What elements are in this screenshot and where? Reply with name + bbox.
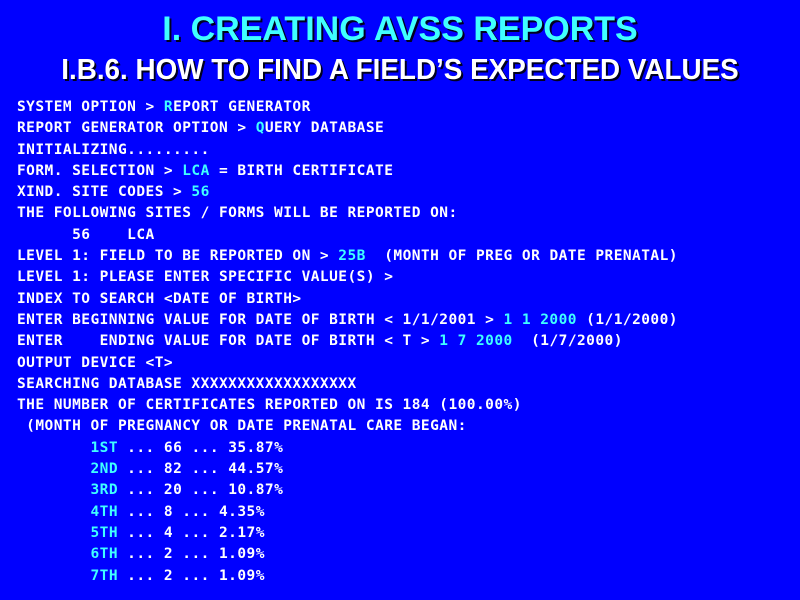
result-percent: 1.09%: [219, 568, 265, 584]
result-count: 2: [164, 546, 173, 562]
result-row: 2ND ... 82 ... 44.57%: [17, 459, 800, 480]
result-count: 20: [164, 482, 182, 498]
terminal-text: UERY DATABASE: [265, 120, 384, 136]
result-percent: 4.35%: [219, 504, 265, 520]
terminal-text: EPORT GENERATOR: [173, 99, 311, 115]
line-level1-field: LEVEL 1: FIELD TO BE REPORTED ON > 25B (…: [17, 246, 800, 267]
row-indent: [17, 461, 90, 477]
result-percent: 10.87%: [228, 482, 283, 498]
result-row: 4TH ... 8 ... 4.35%: [17, 502, 800, 523]
line-site-row: 56 LCA: [17, 225, 800, 246]
result-ordinal: 2ND: [90, 461, 118, 477]
result-count: 82: [164, 461, 182, 477]
line-system-option: SYSTEM OPTION > REPORT GENERATOR: [17, 97, 800, 118]
terminal-text: SYSTEM OPTION >: [17, 99, 164, 115]
line-index-to-search: INDEX TO SEARCH <DATE OF BIRTH>: [17, 289, 800, 310]
highlighted-input: Q: [256, 120, 265, 136]
terminal-text: ENTER ENDING VALUE FOR DATE OF BIRTH < T…: [17, 333, 439, 349]
terminal-text: FORM. SELECTION >: [17, 163, 182, 179]
result-row: 1ST ... 66 ... 35.87%: [17, 438, 800, 459]
result-percent: 35.87%: [228, 440, 283, 456]
row-indent: [17, 504, 90, 520]
result-separator: ...: [118, 504, 164, 520]
highlighted-input: 1 7 2000: [439, 333, 512, 349]
terminal-lines: SYSTEM OPTION > REPORT GENERATORREPORT G…: [17, 97, 800, 438]
terminal-text: LEVEL 1: FIELD TO BE REPORTED ON >: [17, 248, 338, 264]
terminal-text: (MONTH OF PREGNANCY OR DATE PRENATAL CAR…: [17, 418, 467, 434]
result-row: 7TH ... 2 ... 1.09%: [17, 566, 800, 587]
terminal-text: ENTER BEGINNING VALUE FOR DATE OF BIRTH …: [17, 312, 504, 328]
terminal-text: LEVEL 1: PLEASE ENTER SPECIFIC VALUE(S) …: [17, 269, 393, 285]
terminal-text: REPORT GENERATOR OPTION >: [17, 120, 256, 136]
line-following-sites: THE FOLLOWING SITES / FORMS WILL BE REPO…: [17, 203, 800, 224]
result-separator: ...: [173, 504, 219, 520]
result-row: 5TH ... 4 ... 2.17%: [17, 523, 800, 544]
row-indent: [17, 546, 90, 562]
result-count: 8: [164, 504, 173, 520]
result-count: 66: [164, 440, 182, 456]
line-xind-site-codes: XIND. SITE CODES > 56: [17, 182, 800, 203]
result-percent: 44.57%: [228, 461, 283, 477]
row-indent: [17, 525, 90, 541]
title-block: I. CREATING AVSS REPORTS I.B.6. HOW TO F…: [0, 8, 800, 88]
terminal-text: = BIRTH CERTIFICATE: [210, 163, 394, 179]
terminal-text: INDEX TO SEARCH <DATE OF BIRTH>: [17, 291, 302, 307]
line-level1-specific: LEVEL 1: PLEASE ENTER SPECIFIC VALUE(S) …: [17, 267, 800, 288]
result-ordinal: 4TH: [90, 504, 118, 520]
line-month-pregnancy: (MONTH OF PREGNANCY OR DATE PRENATAL CAR…: [17, 416, 800, 437]
result-separator: ...: [118, 568, 164, 584]
line-beginning-value: ENTER BEGINNING VALUE FOR DATE OF BIRTH …: [17, 310, 800, 331]
result-row: 6TH ... 2 ... 1.09%: [17, 544, 800, 565]
result-separator: ...: [118, 440, 164, 456]
terminal-text: (MONTH OF PREG OR DATE PRENATAL): [366, 248, 678, 264]
line-searching-db: SEARCHING DATABASE XXXXXXXXXXXXXXXXXX: [17, 374, 800, 395]
highlighted-input: R: [164, 99, 173, 115]
highlighted-input: 25B: [338, 248, 366, 264]
terminal-text: THE FOLLOWING SITES / FORMS WILL BE REPO…: [17, 205, 458, 221]
line-number-certs: THE NUMBER OF CERTIFICATES REPORTED ON I…: [17, 395, 800, 416]
terminal-text: (1/7/2000): [513, 333, 623, 349]
row-indent: [17, 440, 90, 456]
row-indent: [17, 482, 90, 498]
result-separator: ...: [173, 525, 219, 541]
result-separator: ...: [173, 546, 219, 562]
result-separator: ...: [118, 525, 164, 541]
result-separator: ...: [118, 461, 164, 477]
terminal-text: XIND. SITE CODES >: [17, 184, 191, 200]
page-subtitle: I.B.6. HOW TO FIND A FIELD’S EXPECTED VA…: [16, 52, 784, 88]
result-separator: ...: [182, 482, 228, 498]
terminal-transcript: SYSTEM OPTION > REPORT GENERATORREPORT G…: [17, 97, 800, 587]
result-ordinal: 5TH: [90, 525, 118, 541]
line-ending-value: ENTER ENDING VALUE FOR DATE OF BIRTH < T…: [17, 331, 800, 352]
result-ordinal: 3RD: [90, 482, 118, 498]
highlighted-input: LCA: [182, 163, 210, 179]
page-title: I. CREATING AVSS REPORTS: [0, 8, 800, 50]
result-row: 3RD ... 20 ... 10.87%: [17, 480, 800, 501]
slide-canvas: I. CREATING AVSS REPORTS I.B.6. HOW TO F…: [0, 0, 800, 600]
highlighted-input: 56: [191, 184, 209, 200]
result-ordinal: 7TH: [90, 568, 118, 584]
result-ordinal: 1ST: [90, 440, 118, 456]
line-form-selection: FORM. SELECTION > LCA = BIRTH CERTIFICAT…: [17, 161, 800, 182]
row-indent: [17, 568, 90, 584]
result-separator: ...: [182, 461, 228, 477]
line-report-generator-option: REPORT GENERATOR OPTION > QUERY DATABASE: [17, 118, 800, 139]
result-count: 2: [164, 568, 173, 584]
terminal-text: SEARCHING DATABASE XXXXXXXXXXXXXXXXXX: [17, 376, 357, 392]
terminal-text: (1/1/2000): [577, 312, 678, 328]
terminal-text: 56 LCA: [17, 227, 155, 243]
terminal-text: INITIALIZING.........: [17, 142, 210, 158]
terminal-text: THE NUMBER OF CERTIFICATES REPORTED ON I…: [17, 397, 522, 413]
terminal-text: OUTPUT DEVICE <T>: [17, 355, 173, 371]
result-percent: 1.09%: [219, 546, 265, 562]
result-ordinal: 6TH: [90, 546, 118, 562]
result-rows: 1ST ... 66 ... 35.87% 2ND ... 82 ... 44.…: [17, 438, 800, 587]
highlighted-input: 1 1 2000: [504, 312, 577, 328]
result-separator: ...: [118, 546, 164, 562]
result-separator: ...: [173, 568, 219, 584]
result-separator: ...: [118, 482, 164, 498]
line-output-device: OUTPUT DEVICE <T>: [17, 353, 800, 374]
result-separator: ...: [182, 440, 228, 456]
line-initializing: INITIALIZING.........: [17, 140, 800, 161]
result-count: 4: [164, 525, 173, 541]
result-percent: 2.17%: [219, 525, 265, 541]
